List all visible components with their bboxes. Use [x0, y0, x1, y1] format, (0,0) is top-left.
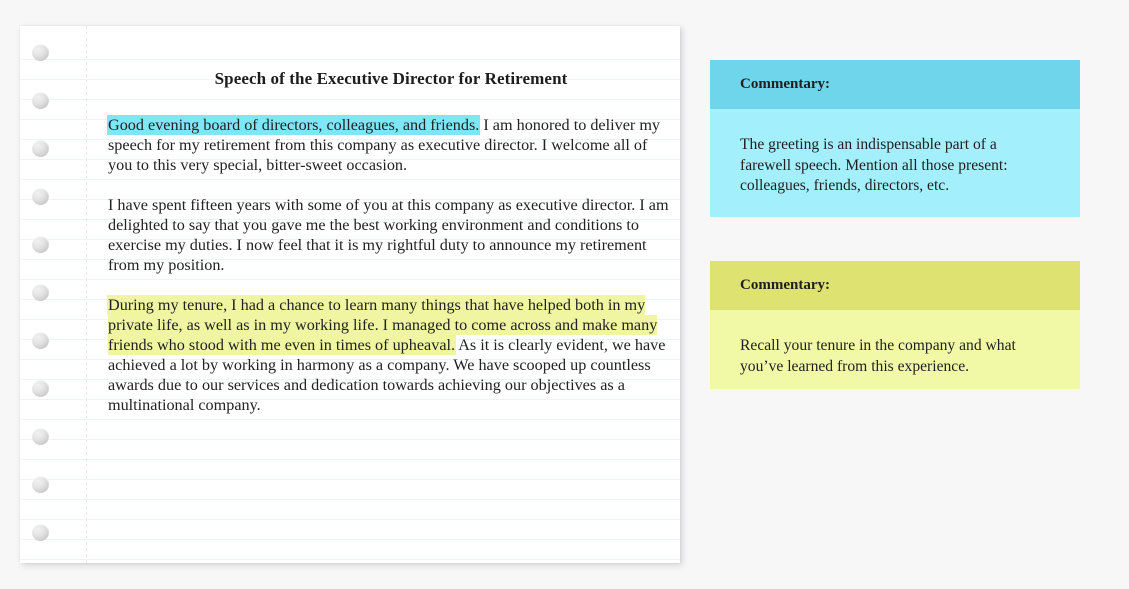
page-title: Speech of the Executive Director for Ret… — [108, 26, 674, 89]
highlight-greeting[interactable]: Good evening board of directors, colleag… — [108, 116, 479, 134]
punch-hole — [32, 188, 49, 205]
punch-hole — [32, 476, 49, 493]
paragraph-tenure-intro: I have spent fifteen years with some of … — [108, 175, 674, 275]
notebook-paper: Speech of the Executive Director for Ret… — [20, 26, 680, 563]
punch-hole — [32, 140, 49, 157]
commentary-card-greeting[interactable]: Commentary: The greeting is an indispens… — [710, 60, 1080, 217]
punch-hole — [32, 284, 49, 301]
punch-hole — [32, 236, 49, 253]
commentary-card-tenure[interactable]: Commentary: Recall your tenure in the co… — [710, 261, 1080, 389]
commentary-header-tenure: Commentary: — [710, 261, 1080, 310]
punch-hole — [32, 524, 49, 541]
margin-line — [86, 26, 87, 563]
document-content: Speech of the Executive Director for Ret… — [108, 26, 674, 563]
paragraph-tenure-intro-text: I have spent fifteen years with some of … — [108, 196, 669, 274]
paragraph-achievements: During my tenure, I had a chance to lear… — [108, 275, 674, 415]
punch-hole — [32, 332, 49, 349]
punch-hole — [32, 92, 49, 109]
punch-holes-column — [20, 26, 86, 563]
commentary-body-tenure: Recall your tenure in the company and wh… — [710, 310, 1080, 389]
punch-hole — [32, 428, 49, 445]
punch-hole — [32, 44, 49, 61]
commentary-body-greeting: The greeting is an indispensable part of… — [710, 109, 1080, 217]
paragraph-greeting: Good evening board of directors, colleag… — [108, 89, 674, 175]
commentary-header-greeting: Commentary: — [710, 60, 1080, 109]
punch-hole — [32, 380, 49, 397]
